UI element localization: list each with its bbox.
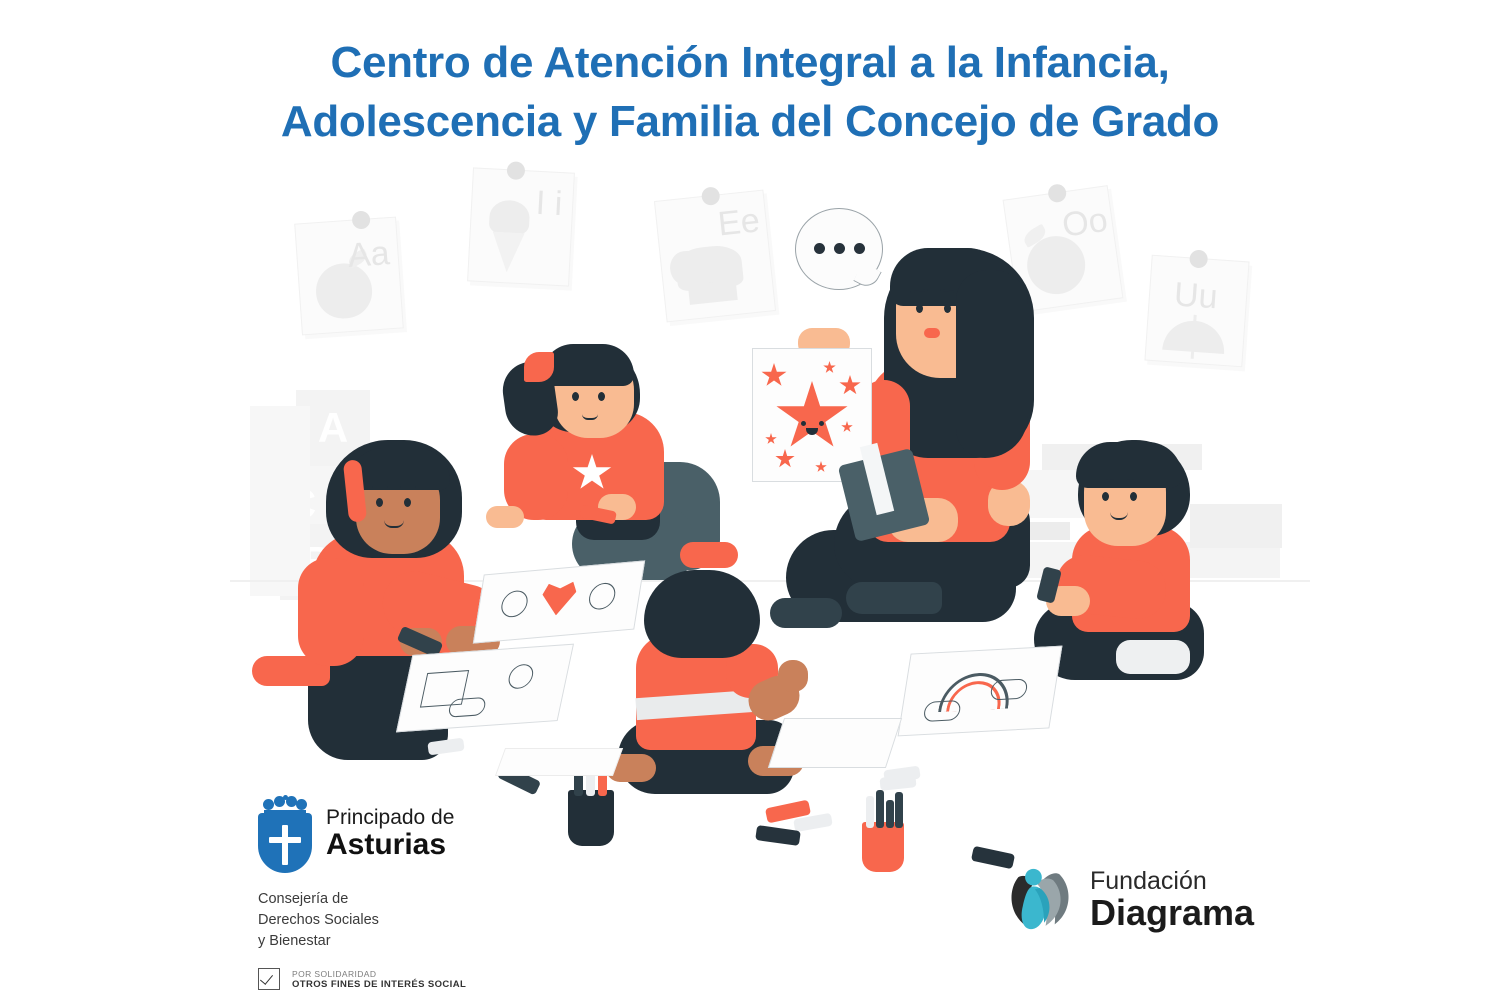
boy-eye-left [1102,492,1109,501]
girl-pony-brow-left [568,380,584,382]
marker-cup-coral [862,822,904,872]
drawing-heart [539,579,578,617]
asturias-crown-icon [262,795,308,815]
teacher-eye-left [916,304,923,313]
star-small-1 [761,363,787,388]
solidarity-mark: POR SOLIDARIDAD OTROS FINES DE INTERÉS S… [258,968,558,990]
flashcard-aa: Aa [294,217,404,336]
diagrama-name-line-2: Diagrama [1090,894,1254,932]
page-title: Centro de Atención Integral a la Infanci… [0,34,1500,152]
asturias-department-line-1: Consejería de [258,889,558,910]
flashcard-ii: I i [467,167,575,286]
girl-hb-eye-right [404,498,411,507]
flashcard-ee: Ee [654,190,776,323]
solidarity-line-1: POR SOLIDARIDAD [292,969,466,979]
drawing-sun [506,663,535,689]
diagrama-swirl-figure-icon [1000,862,1076,938]
boy-eye-right [1130,492,1137,501]
blank-paper-sheet [768,718,902,768]
marker-navy-2 [876,790,884,828]
marker-cup-navy [568,790,614,846]
elephant-head-glyph [668,250,701,287]
ice-cream-glyph [489,199,531,235]
girl-hb-hair-front [350,448,450,490]
teacher-hair-side [956,270,1028,458]
crayon-white-4 [879,774,916,791]
rainbow-drawing [898,646,1063,737]
asturias-shield-emblem-icon [258,795,312,873]
girl-pony-eye-left [572,392,579,401]
page-title-line-1: Centro de Atención Integral a la Infanci… [0,34,1500,93]
flashcard-uu: Uu [1144,255,1249,368]
star-face-eye-left [801,421,806,426]
star-small-5 [775,449,795,469]
flashcard-letter: Aa [347,234,391,276]
star-small-4 [765,433,777,445]
teacher-shoe-right [846,582,942,614]
flashcard-letter: I i [535,184,563,224]
girl-pony-shoe [680,542,738,568]
teacher-mouth [924,328,940,338]
poster-page: Centro de Atención Integral a la Infanci… [0,0,1500,1000]
boy-shoe [1116,640,1190,674]
girl-pony-brow-right [594,380,610,382]
girl-pony-hair-front [542,344,634,386]
teacher-eye-right [944,304,951,313]
flashcard-pin-icon [1189,249,1208,268]
girl-pony-bow-icon [524,352,554,382]
asturias-name-line-1: Principado de [326,807,454,829]
star-face-eye-right [819,421,824,426]
solidarity-line-2: OTROS FINES DE INTERÉS SOCIAL [292,979,466,990]
classroom-illustration: Aa I i Ee Oo Uu A [0,150,1500,850]
star-small-3 [823,361,836,374]
rainbow-cloud-right [989,678,1028,700]
flashcard-pin-icon [701,186,721,206]
ice-cream-cone-glyph [491,232,525,274]
star-big [775,381,849,453]
asturias-department-line-3: y Bienestar [258,931,558,952]
flashcard-pin-icon [506,161,525,180]
marker-navy-3 [886,800,894,828]
asturias-department-line-2: Derechos Sociales [258,910,558,931]
child-back-hair [644,570,760,658]
child-back-hand-pointing [778,660,808,692]
logo-principado-de-asturias: Principado de Asturias Consejería de Der… [258,795,558,990]
girl-hb-brow-left [372,486,388,488]
logo-fundacion-diagrama: Fundación Diagrama [1000,862,1254,938]
asturias-name-line-2: Asturias [326,829,454,861]
drawing-flower-left [499,590,529,619]
elephant-legs-glyph [688,280,738,305]
marker-white-2 [866,796,874,828]
asturias-department: Consejería de Derechos Sociales y Bienes… [258,889,558,952]
flashcard-pin-icon [1047,183,1067,203]
flashcard-pin-icon [352,210,371,229]
rainbow-cloud-left [923,700,962,722]
star-small-7 [815,461,827,473]
star-small-6 [841,421,853,433]
marker-navy-4 [895,792,903,828]
paper-scrap-left [495,748,623,776]
page-title-line-2: Adolescencia y Familia del Concejo de Gr… [0,93,1500,152]
checkbox-checked-icon [258,968,280,990]
diagrama-name-line-1: Fundación [1090,869,1254,894]
house-sun-drawing [396,644,574,733]
flashcard-letter: Uu [1173,275,1219,317]
flashcard-letter: Ee [716,201,761,244]
girl-pony-eye-right [598,392,605,401]
star-small-2 [839,375,861,396]
drawing-flower-right [587,582,617,611]
girl-hb-arm-back [298,558,364,666]
girl-hb-brow-right [400,486,416,488]
girl-hb-eye-left [376,498,383,507]
